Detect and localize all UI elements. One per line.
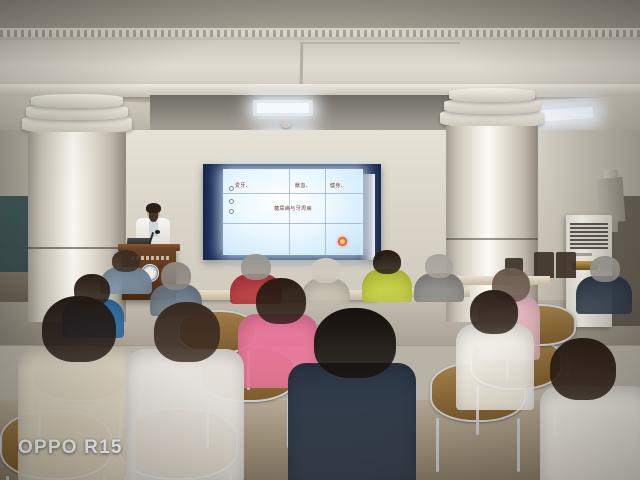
head: [590, 256, 620, 282]
man-back-right: [576, 256, 632, 314]
slide-bullet-icon: [229, 186, 234, 191]
head: [373, 250, 401, 274]
slide-header-cell-2: 献血、: [295, 184, 311, 190]
man-yellow-green: [362, 250, 412, 302]
torso: [126, 349, 244, 480]
microphone-head-icon: [155, 230, 160, 234]
camera-watermark: OPPO R15: [18, 437, 123, 459]
head: [112, 250, 140, 272]
head: [550, 338, 616, 400]
ceiling-light-icon: [253, 100, 313, 116]
head: [425, 254, 453, 278]
slide-bullet-icon: [229, 199, 234, 204]
head: [154, 302, 220, 362]
torso: [288, 363, 416, 480]
slide-header-cell-3: 健身、: [330, 184, 346, 190]
ceiling-mid: [0, 40, 640, 88]
head: [241, 254, 271, 280]
woman-floral-white: [126, 302, 244, 480]
head: [314, 308, 396, 378]
man-navy-polo: [288, 308, 416, 480]
slide-bullet-icon: [229, 209, 234, 214]
dentil-molding-icon: [0, 30, 640, 37]
ac-grille-icon: [570, 223, 608, 249]
slide-logo-icon: [338, 237, 347, 246]
presentation-slide: 爱牙、 献血、 健身、 糖尿病与牙周病: [223, 169, 363, 255]
torso: [456, 324, 534, 410]
head: [161, 262, 191, 290]
head: [42, 296, 116, 362]
torso: [18, 347, 136, 480]
slide-header-cell-1: 爱牙、: [235, 184, 251, 190]
photograph: 爱牙、 献血、 健身、 糖尿病与牙周病: [0, 0, 640, 480]
projection-screen: 爱牙、 献血、 健身、 糖尿病与牙周病: [203, 164, 381, 260]
smoke-detector-icon: [281, 122, 291, 128]
torso: [540, 386, 640, 480]
head: [470, 290, 518, 334]
man-white-shirt: [456, 290, 534, 410]
woman-white-tee: [540, 338, 640, 480]
ceiling-conduit: [300, 42, 460, 44]
screen-glare: [359, 174, 375, 260]
slide-body-text: 糖尿病与牙周病: [274, 207, 312, 213]
